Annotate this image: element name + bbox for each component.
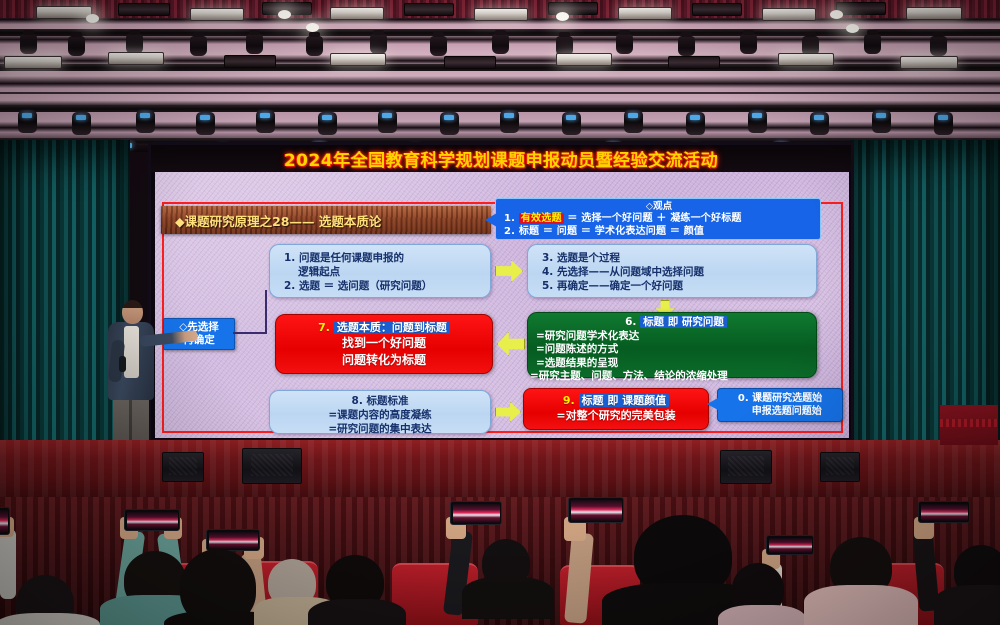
par-can-light — [190, 36, 207, 56]
audience-phone — [124, 509, 180, 531]
par-can-light — [864, 34, 881, 54]
tag-connector-line — [265, 290, 267, 334]
draped-table — [940, 405, 998, 445]
box-title-line-3: =选题结果的呈现 — [536, 357, 816, 371]
stage-light-bar — [190, 8, 244, 21]
moving-head-light — [256, 110, 275, 133]
moving-head-light — [18, 110, 37, 133]
phone-screen — [769, 538, 812, 553]
par-can-light — [616, 34, 633, 54]
par-can-light — [126, 34, 143, 54]
moving-head-light — [72, 112, 91, 135]
par-can-light — [20, 34, 37, 54]
moving-head-light — [500, 110, 519, 133]
spot-light — [278, 10, 291, 19]
box-process-line-3: 5. 再确定——确定一个好问题 — [542, 279, 816, 293]
viewpoint-line-2: 2. 标题 ＝ 问题 ＝ 学术化表达问题 ＝ 颜值 — [504, 225, 814, 238]
slide-header-text: ◆课题研究原理之28—— 选题本质论 — [175, 211, 381, 230]
auditorium-photo: 2024年全国教育科学规划课题申报动员暨经验交流活动 ◆课题研究原理之28—— … — [0, 0, 1000, 625]
moving-head-light — [378, 110, 397, 133]
slide-header-bar: ◆课题研究原理之28—— 选题本质论 — [161, 206, 491, 234]
led-presentation-screen: 2024年全国教育科学规划课题申报动员暨经验交流活动 ◆课题研究原理之28—— … — [148, 142, 854, 442]
box-value-heading-row: 9. 标题 即 课题颜值 — [524, 393, 708, 408]
stage-light-bar — [404, 3, 454, 16]
box-essence: 7. 选题本质：问题到标题 找到一个好问题 问题转化为标题 — [275, 314, 493, 374]
audience-area — [0, 497, 1000, 625]
moving-head-light — [624, 110, 643, 133]
moving-head-light — [196, 112, 215, 135]
stage-monitor-speaker — [720, 450, 772, 484]
viewpoint-line-1-rest: ＝ 选择一个好问题 ＋ 凝练一个好标题 — [567, 213, 741, 224]
box-premise: 1. 问题是任何课题申报的 逻辑起点 2. 选题 ＝ 选问题（研究问题） — [269, 244, 491, 298]
box-value-heading: 标题 即 课题颜值 — [579, 394, 670, 407]
event-banner: 2024年全国教育科学规划课题申报动员暨经验交流活动 — [151, 145, 851, 172]
truss-bar-2 — [0, 64, 1000, 71]
phone-screen — [921, 504, 968, 521]
viewpoint-heading: ◇观点 — [504, 201, 814, 212]
box-essence-heading: 选题本质：问题到标题 — [334, 321, 450, 334]
box-title-criteria: 8. 标题标准 =课题内容的高度凝练 =研究问题的集中表达 — [269, 390, 491, 434]
box-title-heading-row: 6. 标题 即 研究问题 — [536, 316, 816, 330]
par-can-light — [68, 36, 85, 56]
audience-phone — [918, 501, 970, 523]
phone-screen — [571, 500, 622, 521]
audience-phone — [766, 535, 814, 555]
box-title-line-2: =问题陈述的方式 — [536, 343, 816, 357]
audience-shoulders — [462, 577, 554, 619]
stage-light-bar — [836, 2, 886, 15]
box-start-note: 0. 课题研究选题始 申报选题问题始 — [717, 388, 843, 422]
box-start-note-tail — [707, 398, 718, 410]
box-criteria-line-2: =研究问题的集中表达 — [270, 422, 490, 436]
stage-monitor-speaker — [242, 448, 302, 484]
audience-phone — [450, 501, 502, 525]
stage-light-bar — [444, 56, 496, 69]
box-criteria-heading: 8. 标题标准 — [270, 394, 490, 408]
audience-phone — [206, 529, 260, 551]
phone-screen — [453, 504, 500, 523]
moving-head-light — [686, 112, 705, 135]
par-can-light — [430, 36, 447, 56]
box-title-line-1: =研究问题学术化表达 — [536, 330, 816, 344]
audience-shoulders — [718, 605, 806, 625]
viewpoint-line-1-highlight: 有效选题 — [519, 213, 564, 224]
moving-head-light — [562, 112, 581, 135]
stage-light-bar — [330, 53, 386, 66]
box-start-line-2: 申报选题问题始 — [718, 405, 842, 418]
truss-bar-3 — [0, 92, 1000, 94]
par-can-light — [740, 34, 757, 54]
stage-light-bar — [474, 8, 528, 21]
box-title-line-4: =研究主题、问题、方法、结论的浓缩处理 — [530, 370, 816, 384]
stage-light-bar — [692, 3, 742, 16]
moving-head-light — [440, 112, 459, 135]
box-essence-line-2: 问题转化为标题 — [276, 352, 492, 369]
box-premise-line-1: 1. 问题是任何课题申报的 — [284, 251, 490, 265]
stage-light-bar — [36, 6, 92, 19]
box-process-line-2: 4. 先选择——从问题域中选择问题 — [542, 265, 816, 279]
par-can-light — [370, 34, 387, 54]
moving-head-light — [318, 112, 337, 135]
stage-monitor-speaker — [820, 452, 860, 482]
box-premise-line-2: 逻辑起点 — [284, 265, 490, 279]
moving-head-light — [136, 110, 155, 133]
moving-head-light — [872, 110, 891, 133]
phone-screen — [209, 532, 258, 549]
box-title-is-question: 6. 标题 即 研究问题 =研究问题学术化表达 =问题陈述的方式 =选题结果的呈… — [527, 312, 817, 378]
spot-light — [830, 10, 843, 19]
stage-light-bar — [668, 56, 720, 69]
viewpoint-callout: ◇观点 1. 有效选题 ＝ 选择一个好问题 ＋ 凝练一个好标题 2. 标题 ＝ … — [495, 198, 821, 240]
stage-light-bar — [556, 53, 612, 66]
spot-light — [306, 23, 319, 32]
box-title-heading: 标题 即 研究问题 — [640, 316, 727, 328]
viewpoint-line-1: 1. 有效选题 ＝ 选择一个好问题 ＋ 凝练一个好标题 — [504, 212, 814, 225]
audience-phone — [0, 507, 10, 535]
audience-phone — [568, 497, 624, 523]
par-can-light — [678, 36, 695, 56]
audience-shoulders — [308, 599, 406, 625]
audience-shoulders — [804, 585, 918, 625]
spot-light — [86, 14, 99, 23]
presentation-slide: ◆课题研究原理之28—— 选题本质论 ◇观点 1. 有效选题 ＝ 选择一个好问题… — [155, 172, 849, 438]
stage-light-bar — [108, 52, 164, 65]
stage-light-bar — [618, 7, 672, 20]
stage-light-bar — [118, 3, 170, 16]
stage-monitor-speaker — [162, 452, 204, 482]
presenter-head — [122, 300, 143, 324]
box-process-line-1: 3. 选题是个过程 — [542, 251, 816, 265]
box-essence-line-1: 找到一个好问题 — [276, 335, 492, 352]
par-can-light — [492, 34, 509, 54]
stage-light-bar — [330, 7, 384, 20]
par-can-light — [930, 36, 947, 56]
stage-light-bar — [548, 2, 598, 15]
viewpoint-line-1-prefix: 1. — [504, 213, 515, 224]
audience-shoulders — [0, 613, 100, 625]
par-can-light — [306, 36, 323, 56]
moving-head-light — [748, 110, 767, 133]
box-value-number: 9. — [563, 394, 575, 407]
presenter-microphone — [119, 356, 126, 372]
stage-light-bar — [906, 7, 962, 20]
phone-screen — [0, 510, 8, 533]
stage-light-bar — [224, 55, 276, 68]
box-premise-line-3: 2. 选题 ＝ 选问题（研究问题） — [284, 279, 490, 293]
spot-light — [846, 24, 859, 33]
audience-arm — [0, 529, 16, 599]
box-essence-number: 7. — [318, 321, 330, 334]
stage-ceiling-lighting-rig — [0, 0, 1000, 152]
stage-light-bar — [4, 56, 62, 69]
spot-light — [556, 12, 569, 21]
phone-screen — [127, 512, 178, 529]
box-process: 3. 选题是个过程 4. 先选择——从问题域中选择问题 5. 再确定——确定一个… — [527, 244, 817, 298]
presenter-shirt — [124, 326, 139, 378]
event-banner-text: 2024年全国教育科学规划课题申报动员暨经验交流活动 — [284, 146, 718, 171]
moving-head-light — [934, 112, 953, 135]
tag-connector-line — [233, 332, 267, 334]
par-can-light — [246, 34, 263, 54]
stage-light-bar — [762, 8, 816, 21]
audience-shoulders — [934, 585, 1000, 625]
stage-light-bar — [778, 53, 834, 66]
stage-light-bar — [900, 56, 958, 69]
moving-head-light — [810, 112, 829, 135]
box-criteria-line-1: =课题内容的高度凝练 — [270, 408, 490, 422]
box-essence-heading-row: 7. 选题本质：问题到标题 — [276, 320, 492, 335]
box-title-is-value: 9. 标题 即 课题颜值 =对整个研究的完美包装 — [523, 388, 709, 430]
box-title-number: 6. — [625, 316, 636, 328]
box-start-line-1: 0. 课题研究选题始 — [718, 392, 842, 405]
box-value-line: =对整个研究的完美包装 — [524, 408, 708, 423]
